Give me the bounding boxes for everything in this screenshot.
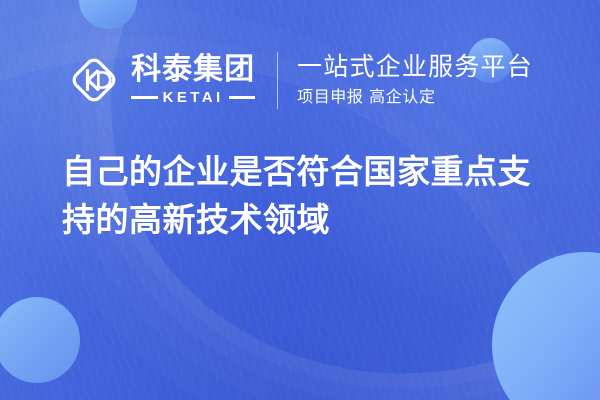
tagline-sub: 项目申报 高企认定 xyxy=(297,87,533,106)
tagline-main: 一站式企业服务平台 xyxy=(297,53,533,81)
logo-brand-en-row: KETAI xyxy=(131,90,255,105)
tagline: 一站式企业服务平台 项目申报 高企认定 xyxy=(297,53,533,106)
logo-wordmark: 科泰集团 KETAI xyxy=(131,55,255,105)
logo-brand-en: KETAI xyxy=(163,90,224,105)
vertical-divider xyxy=(277,52,278,109)
logo-brand-cn: 科泰集团 xyxy=(131,55,255,85)
headline-text: 自己的企业是否符合国家重点支持的高新技术领域 xyxy=(62,148,554,243)
logo-dash-right-icon xyxy=(229,96,256,99)
brand-logo[interactable]: 科泰集团 KETAI xyxy=(67,53,255,107)
logo-dash-left-icon xyxy=(131,96,158,99)
promo-banner: 科泰集团 KETAI 一站式企业服务平台 项目申报 高企认定 自己的企业是否符合… xyxy=(0,0,600,400)
banner-header: 科泰集团 KETAI 一站式企业服务平台 项目申报 高企认定 xyxy=(0,44,600,116)
ketai-diamond-kd-monogram-icon xyxy=(67,53,121,107)
